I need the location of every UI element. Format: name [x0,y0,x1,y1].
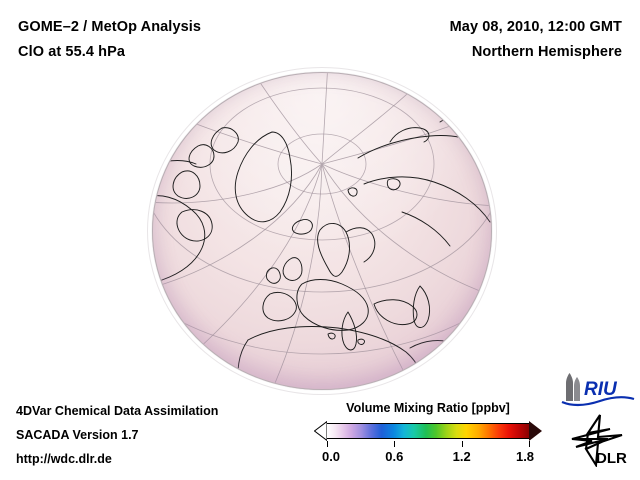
riu-logo: RIU [560,371,636,407]
region-label: Northern Hemisphere [472,44,622,60]
colorbar-ticks [314,441,542,448]
colorbar-tick [394,441,395,447]
colorbar-tick-label: 1.2 [453,449,471,464]
footer-method: 4DVar Chemical Data Assimilation [16,404,218,418]
colorbar-tick-label: 0.0 [322,449,340,464]
colorbar-tick-labels: 0.00.61.21.8 [314,449,542,467]
colorbar-title: Volume Mixing Ratio [ppbv] [314,401,542,415]
colorbar-bar [314,421,542,441]
title-instrument: GOME–2 / MetOp Analysis [18,19,201,35]
dlr-wordmark: DLR [596,450,627,467]
dlr-logo: DLR [562,413,634,467]
globe-limb [152,72,492,390]
colorbar-gradient [326,423,530,439]
colorbar: Volume Mixing Ratio [ppbv] 0.00.61.21.8 [314,401,542,467]
footer-url[interactable]: http://wdc.dlr.de [16,452,112,466]
timestamp-label: May 08, 2010, 12:00 GMT [450,19,622,35]
riu-towers-icon [566,373,580,401]
globe-map [152,72,492,390]
colorbar-tick-label: 0.6 [385,449,403,464]
footer-version: SACADA Version 1.7 [16,428,139,442]
title-species-level: ClO at 55.4 hPa [18,44,125,60]
colorbar-tick [327,441,328,447]
colorbar-underflow-outline [314,421,327,441]
colorbar-tick [462,441,463,447]
colorbar-tick-label: 1.8 [516,449,534,464]
colorbar-tick [529,441,530,447]
plot-canvas: GOME–2 / MetOp Analysis ClO at 55.4 hPa … [0,0,640,480]
colorbar-overflow-arrow [529,421,542,441]
